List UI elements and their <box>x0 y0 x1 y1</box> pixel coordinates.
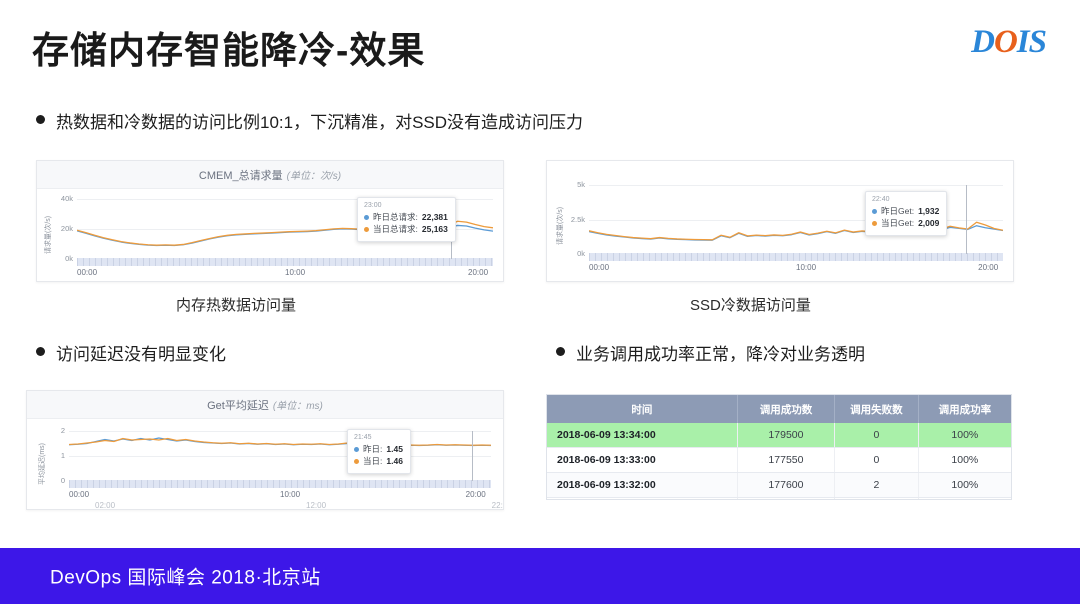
logo-letter-d: D <box>971 24 994 60</box>
tooltip-row: 昨日总请求:22,381 <box>364 211 448 223</box>
table-header-1: 调用成功数 <box>737 395 834 423</box>
chart-plot-area: 请求量(次/s)0k2.5k5k00:0010:0020:0022:40昨日Ge… <box>547 171 1013 280</box>
y-axis-tick: 2 <box>35 426 65 435</box>
bullet-latency: 访问延迟没有明显变化 <box>36 340 226 365</box>
tooltip-series-value: 1,932 <box>918 205 939 217</box>
bullet-dot-icon <box>36 347 45 356</box>
logo-letter-s: S <box>1029 24 1046 60</box>
tooltip-time: 22:40 <box>872 196 939 203</box>
y-axis-label: 请求量(次/s) <box>43 216 53 254</box>
call-stats-table: 时间调用成功数调用失败数调用成功率 2018-06-09 13:34:00179… <box>547 395 1011 500</box>
x-axis-range-scrollbar[interactable] <box>77 258 493 266</box>
tooltip-time: 21:45 <box>354 434 403 441</box>
chart-tooltip: 21:45昨日:1.45当日:1.46 <box>347 429 411 474</box>
x-axis-ticks-pattern <box>77 258 493 266</box>
cell-success-count: 177550 <box>737 448 834 473</box>
y-axis-tick: 0 <box>35 476 65 485</box>
slide: 存储内存智能降冷-效果 DOIS 热数据和冷数据的访问比例10:1，下沉精准，对… <box>0 0 1080 604</box>
chart-cursor-line <box>472 431 473 481</box>
cell-success-count: 179500 <box>737 423 834 448</box>
table-row[interactable]: 2018-06-09 13:33:001775500100% <box>547 448 1011 473</box>
chart-unit: (单位：次/s) <box>287 167 341 182</box>
table-row[interactable]: 2018-06-09 13:34:001795000100% <box>547 423 1011 448</box>
table-header-3: 调用成功率 <box>918 395 1011 423</box>
footer-bar: DevOps 国际峰会 2018·北京站 <box>0 548 1080 604</box>
chart-unit: (单位：ms) <box>273 397 323 412</box>
cell-time: 2018-06-09 13:32:00 <box>547 473 737 498</box>
tooltip-series-value: 22,381 <box>422 211 448 223</box>
tooltip-series-swatch-icon <box>354 459 359 464</box>
x-axis-tick: 20:00 <box>978 263 998 272</box>
table-header-0: 时间 <box>547 395 737 423</box>
x-axis-tick-secondary: 02:00 <box>95 501 115 510</box>
tooltip-series-label: 当日: <box>363 455 382 467</box>
tooltip-series-label: 昨日: <box>363 443 382 455</box>
tooltip-series-swatch-icon <box>872 209 877 214</box>
chart-title-bar <box>547 161 1013 171</box>
cell-fail-count: 0 <box>835 423 919 448</box>
call-stats-table-wrapper[interactable]: 时间调用成功数调用失败数调用成功率 2018-06-09 13:34:00179… <box>546 394 1012 500</box>
cell-success-rate: 100% <box>918 498 1011 501</box>
chart-title-bar: Get平均延迟 (单位：ms) <box>27 391 503 419</box>
chart-title-bar: CMEM_总请求量 (单位：次/s) <box>37 161 503 189</box>
y-axis-tick: 0k <box>555 249 585 258</box>
tooltip-time: 23:00 <box>364 202 448 209</box>
y-axis-tick: 5k <box>555 180 585 189</box>
bullet-text: 访问延迟没有明显变化 <box>56 340 226 365</box>
cell-fail-count: 0 <box>835 448 919 473</box>
cell-success-count: 177600 <box>737 473 834 498</box>
tooltip-series-label: 当日Get: <box>881 217 914 229</box>
cell-time: 2018-06-09 13:31:00 <box>547 498 737 501</box>
cell-fail-count: 1 <box>835 498 919 501</box>
x-axis-tick: 00:00 <box>77 268 97 277</box>
x-axis-ticks-pattern <box>589 253 1003 261</box>
tooltip-series-swatch-icon <box>364 215 369 220</box>
bullet-success-rate: 业务调用成功率正常，降冷对业务透明 <box>556 340 865 365</box>
table-body: 2018-06-09 13:34:001795000100%2018-06-09… <box>547 423 1011 500</box>
page-title: 存储内存智能降冷-效果 <box>32 20 425 74</box>
bullet-dot-icon <box>36 115 45 124</box>
chart-title: CMEM_总请求量 <box>199 167 283 183</box>
cell-success-rate: 100% <box>918 448 1011 473</box>
y-axis-label: 请求量(次/s) <box>555 206 565 244</box>
bullet-hot-cold-ratio: 热数据和冷数据的访问比例10:1，下沉精准，对SSD没有造成访问压力 <box>36 108 583 133</box>
tooltip-series-value: 2,009 <box>918 217 939 229</box>
cell-success-rate: 100% <box>918 473 1011 498</box>
chart-plot-area: 平均延迟(ms)01200:0010:0020:0002:0012:0022:0… <box>27 419 503 509</box>
tooltip-row: 昨日:1.45 <box>354 443 403 455</box>
x-axis-range-scrollbar[interactable] <box>69 480 491 488</box>
chart-tooltip: 22:40昨日Get:1,932当日Get:2,009 <box>865 191 947 236</box>
tooltip-series-swatch-icon <box>364 227 369 232</box>
chart-series-svg <box>69 431 491 481</box>
x-axis-range-scrollbar[interactable] <box>589 253 1003 261</box>
bullet-text: 业务调用成功率正常，降冷对业务透明 <box>576 340 865 365</box>
tooltip-series-swatch-icon <box>872 221 877 226</box>
cell-success-rate: 100% <box>918 423 1011 448</box>
tooltip-row: 昨日Get:1,932 <box>872 205 939 217</box>
tooltip-series-value: 1.45 <box>386 443 403 455</box>
tooltip-series-label: 昨日总请求: <box>373 211 418 223</box>
x-axis-tick: 20:00 <box>466 490 486 499</box>
table-row[interactable]: 2018-06-09 13:32:001776002100% <box>547 473 1011 498</box>
tooltip-series-label: 当日总请求: <box>373 223 418 235</box>
x-axis-tick: 00:00 <box>589 263 609 272</box>
logo-letter-i: I <box>1017 24 1029 60</box>
series-line <box>69 439 491 446</box>
footer-text: DevOps 国际峰会 2018·北京站 <box>50 563 321 590</box>
dois-logo: DOIS <box>971 26 1046 59</box>
y-axis-tick: 2.5k <box>555 215 585 224</box>
cell-fail-count: 2 <box>835 473 919 498</box>
chart-caption-memory-hot: 内存热数据访问量 <box>176 294 296 315</box>
cell-time: 2018-06-09 13:33:00 <box>547 448 737 473</box>
x-axis-tick: 10:00 <box>796 263 816 272</box>
tooltip-series-label: 昨日Get: <box>881 205 914 217</box>
x-axis-ticks-pattern <box>69 480 491 488</box>
table-header-2: 调用失败数 <box>835 395 919 423</box>
chart-plot-area: 请求量(次/s)0k20k40k00:0010:0020:0023:00昨日总请… <box>37 189 503 281</box>
x-axis-tick-secondary: 22:00 <box>492 501 504 510</box>
y-axis-tick: 20k <box>43 224 73 233</box>
bullet-text: 热数据和冷数据的访问比例10:1，下沉精准，对SSD没有造成访问压力 <box>56 108 583 133</box>
chart-panel-ssd-cold-access: 请求量(次/s)0k2.5k5k00:0010:0020:0022:40昨日Ge… <box>546 160 1014 282</box>
bullet-dot-icon <box>556 347 565 356</box>
tooltip-series-value: 1.46 <box>386 455 403 467</box>
tooltip-series-value: 25,163 <box>422 223 448 235</box>
tooltip-series-swatch-icon <box>354 447 359 452</box>
y-axis-tick: 0k <box>43 254 73 263</box>
y-axis-tick: 1 <box>35 451 65 460</box>
y-axis-tick: 40k <box>43 194 73 203</box>
cell-time: 2018-06-09 13:34:00 <box>547 423 737 448</box>
chart-cursor-line <box>966 185 967 254</box>
chart-panel-cmem-total-requests: CMEM_总请求量 (单位：次/s) 请求量(次/s)0k20k40k00:00… <box>36 160 504 282</box>
chart-title: Get平均延迟 <box>207 397 269 413</box>
x-axis-tick: 00:00 <box>69 490 89 499</box>
tooltip-row: 当日总请求:25,163 <box>364 223 448 235</box>
tooltip-row: 当日Get:2,009 <box>872 217 939 229</box>
tooltip-row: 当日:1.46 <box>354 455 403 467</box>
x-axis-tick: 10:00 <box>285 268 305 277</box>
chart-caption-ssd-cold: SSD冷数据访问量 <box>690 294 811 315</box>
table-header-row: 时间调用成功数调用失败数调用成功率 <box>547 395 1011 423</box>
x-axis-tick: 10:00 <box>280 490 300 499</box>
chart-tooltip: 23:00昨日总请求:22,381当日总请求:25,163 <box>357 197 456 242</box>
chart-panel-get-avg-latency: Get平均延迟 (单位：ms) 平均延迟(ms)01200:0010:0020:… <box>26 390 504 510</box>
cell-success-count: 177500 <box>737 498 834 501</box>
table-row[interactable]: 2018-06-09 13:31:001775001100% <box>547 498 1011 501</box>
logo-letter-o: O <box>994 24 1017 60</box>
x-axis-tick-secondary: 12:00 <box>306 501 326 510</box>
x-axis-tick: 20:00 <box>468 268 488 277</box>
